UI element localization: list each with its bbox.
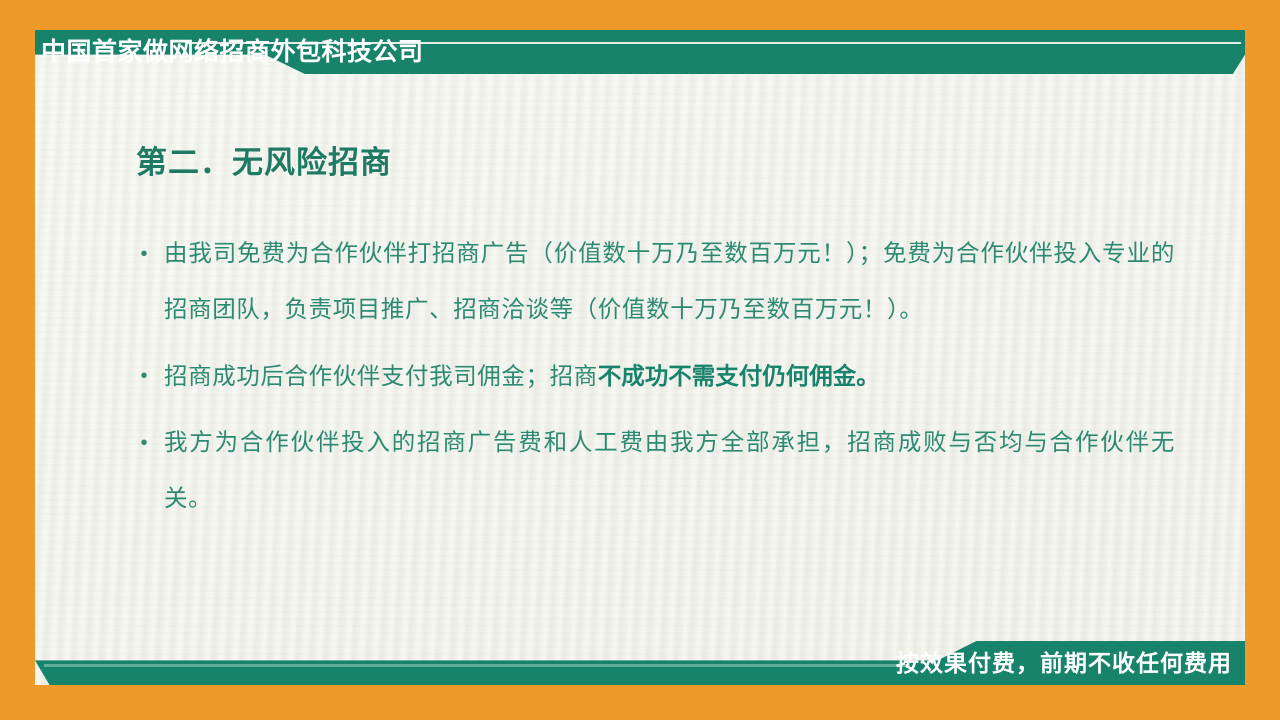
- list-item: • 招商成功后合作伙伴支付我司佣金；招商不成功不需支付仍何佣金。: [140, 348, 1175, 405]
- footer-tagline: 按效果付费，前期不收任何费用: [896, 645, 1232, 681]
- bullet-text: 我方为合作伙伴投入的招商广告费和人工费由我方全部承担，招商成败与否均与合作伙伴无…: [164, 415, 1175, 527]
- bullet-dot-icon: •: [140, 415, 164, 471]
- slide-canvas: 中国首家做网络招商外包科技公司 第二．无风险招商 • 由我司免费为合作伙伴打招商…: [0, 0, 1280, 720]
- slide-title: 第二．无风险招商: [136, 137, 392, 182]
- bullet-text: 由我司免费为合作伙伴打招商广告（价值数十万乃至数百万元！）；免费为合作伙伴投入专…: [164, 226, 1175, 338]
- bullet-list: • 由我司免费为合作伙伴打招商广告（价值数十万乃至数百万元！）；免费为合作伙伴投…: [140, 226, 1175, 537]
- list-item: • 我方为合作伙伴投入的招商广告费和人工费由我方全部承担，招商成败与否均与合作伙…: [140, 415, 1175, 527]
- bullet-dot-icon: •: [140, 348, 164, 404]
- bullet-segment: 招商成功后合作伙伴支付我司佣金；招商: [164, 364, 598, 390]
- header-company-banner: 中国首家做网络招商外包科技公司: [41, 33, 521, 71]
- bullet-text: 招商成功后合作伙伴支付我司佣金；招商不成功不需支付仍何佣金。: [164, 348, 1175, 405]
- footer-divider-line: [44, 664, 910, 667]
- list-item: • 由我司免费为合作伙伴打招商广告（价值数十万乃至数百万元！）；免费为合作伙伴投…: [140, 226, 1175, 338]
- bullet-segment: 我方为合作伙伴投入的招商广告费和人工费由我方全部承担，招商成败与否均与合作伙伴无…: [164, 430, 1175, 512]
- bullet-dot-icon: •: [140, 226, 164, 282]
- bullet-segment: 由我司免费为合作伙伴打招商广告（价值数十万乃至数百万元！）；免费为合作伙伴投入专…: [164, 241, 1175, 323]
- bullet-segment-emphasis: 不成功不需支付仍何佣金。: [598, 363, 880, 389]
